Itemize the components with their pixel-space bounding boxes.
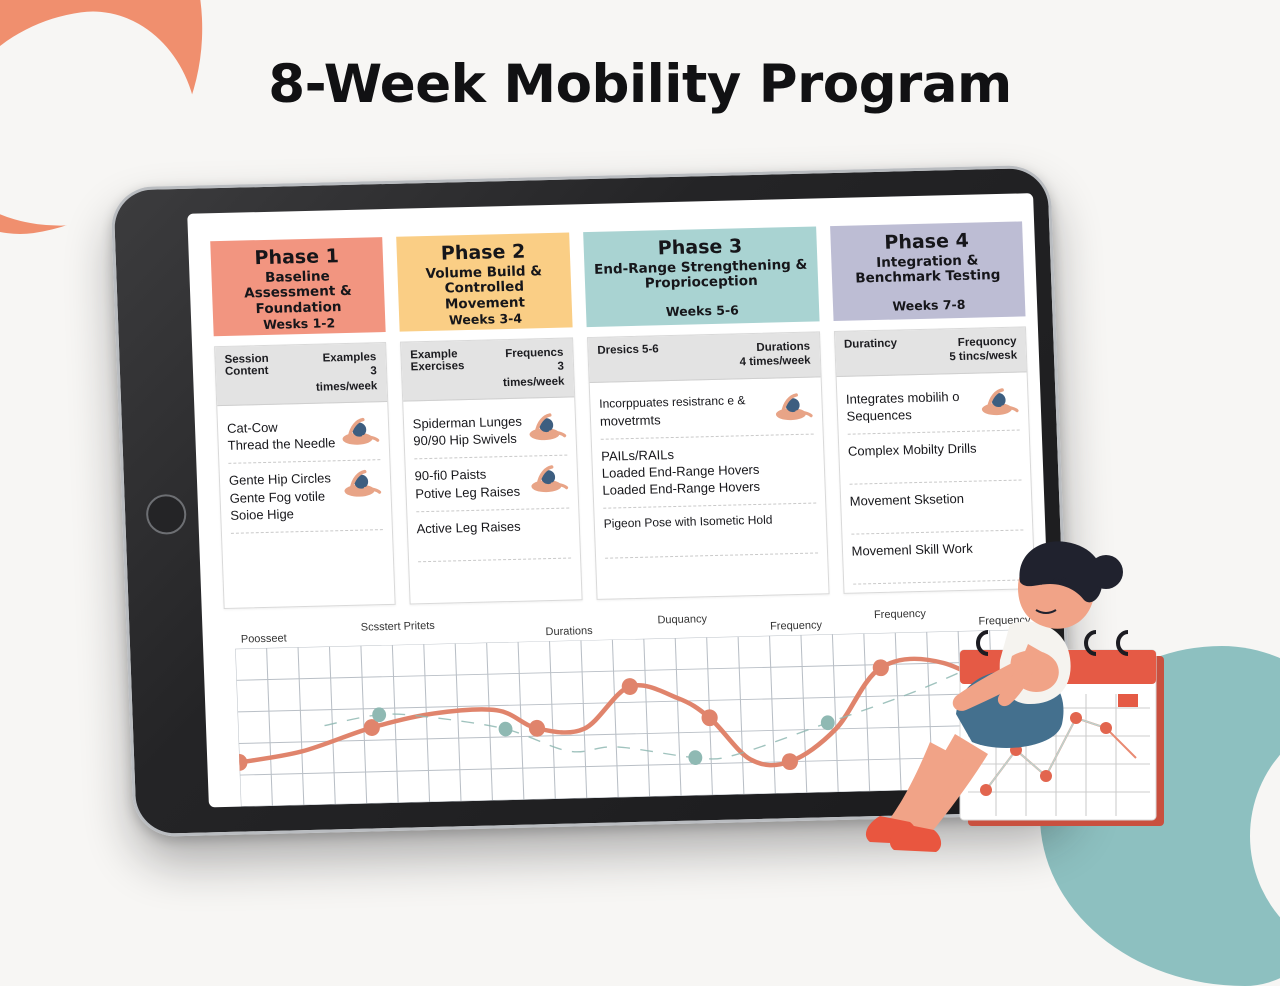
illustration-head: [1018, 541, 1123, 628]
exercise-figure-icon: [976, 386, 1019, 419]
exercise-figure-icon: [524, 412, 567, 445]
row-line: Gente Hip Circles: [229, 470, 337, 490]
phase-3-row-3[interactable]: Pigeon Pose with Isometic Hold: [603, 504, 818, 559]
row-line: 90/90 Hip Swivels: [413, 430, 523, 450]
phase-card-body: Spiderman Lunges90/90 Hip Swivels 90-fi0…: [403, 398, 582, 604]
chart-axis-label: Duquancy: [657, 613, 707, 626]
phase-weeks: Weeks 5-6: [594, 301, 811, 321]
card-header-right: Examples 3 times/week: [309, 350, 377, 395]
phase-banner-4[interactable]: Phase 4 Integration & Benchmark Testing …: [830, 221, 1026, 321]
page-title: 8-Week Mobility Program: [0, 54, 1280, 115]
exercise-figure-icon: [525, 464, 568, 497]
row-text-lines: Movement Sksetion: [849, 490, 978, 510]
phase-weeks: Weeks 7-8: [840, 296, 1017, 315]
row-text-lines: Incorppuates resistranc e &movetrmts: [599, 392, 769, 429]
phase-name: Phase 2: [404, 242, 562, 266]
row-line: Potive Leg Raises: [415, 482, 525, 502]
phase-column-2: Phase 2 Volume Build & Controlled Moveme…: [396, 233, 583, 605]
card-header-right: Frequoncy 5 tincs/wesk: [949, 335, 1018, 365]
row-line: Active Leg Raises: [416, 517, 526, 537]
card-header-right-bottom: 5 tincs/wesk: [949, 349, 1017, 365]
row-line: Sequences: [846, 405, 975, 425]
exercise-figure-icon: [976, 386, 1019, 419]
phase-4-row-2[interactable]: Complex Mobilty Drills: [847, 431, 1021, 485]
illustration-body: [953, 622, 1071, 748]
exercise-figure-icon: [338, 469, 381, 502]
row-icon-empty: [978, 439, 1021, 472]
chart-axis-label: Scsstert Pritets: [361, 620, 435, 634]
row-text-lines: Pigeon Pose with Isometic Hold: [603, 513, 772, 533]
phase-column-3: Phase 3 End-Range Strengthening & Propri…: [583, 226, 829, 600]
exercise-figure-icon: [336, 416, 379, 449]
chart-axis-label: Poosseet: [241, 633, 287, 646]
phase-card-2: Example Exercises Frequencs 3 times/week…: [400, 337, 583, 604]
chart-axis-label: Durations: [545, 625, 593, 638]
phase-card-3: Dresics 5-6 Durations 4 times/week Incor…: [587, 331, 829, 600]
phase-card-header: Example Exercises Frequencs 3 times/week: [401, 338, 574, 401]
exercise-figure-icon: [336, 416, 379, 449]
phase-description: End-Range Strengthening & Proprioception: [592, 258, 810, 294]
card-header-right-top: Frequencs: [501, 346, 564, 362]
card-header-right-bottom: 3 times/week: [310, 365, 378, 395]
phase-banner-1[interactable]: Phase 1 Baseline Assessment & Foundation…: [210, 237, 385, 336]
card-header-right: Durations 4 times/week: [739, 340, 811, 370]
phase-card-header: Duratincy Frequoncy 5 tincs/wesk: [835, 327, 1027, 376]
phase-1-row-2[interactable]: Gente Hip CirclesGente Fog votileSoioe H…: [228, 461, 382, 534]
woman-sitting-on-calendar-illustration: [860, 528, 1190, 858]
row-text-lines: Spiderman Lunges90/90 Hip Swivels: [412, 413, 522, 450]
row-icon-empty: [774, 512, 817, 545]
card-header-right-bottom: 4 times/week: [739, 354, 810, 370]
row-line: Loaded End-Range Hovers: [602, 478, 771, 499]
phase-card-body: Incorppuates resistranc e &movetrmts PAI…: [589, 377, 828, 599]
row-text-lines: PAILs/RAILsLoaded End-Range HoversLoaded…: [601, 443, 772, 499]
row-icon-empty: [772, 442, 815, 475]
card-header-left: Example Exercises: [410, 347, 502, 373]
phase-description: Integration & Benchmark Testing: [839, 253, 1017, 288]
card-header-right-top: Examples: [309, 350, 376, 366]
phase-banner-2[interactable]: Phase 2 Volume Build & Controlled Moveme…: [396, 233, 573, 332]
card-header-left: Dresics 5-6: [597, 343, 659, 356]
row-line: Pigeon Pose with Isometic Hold: [603, 513, 772, 533]
row-line: Gente Fog votile: [229, 487, 337, 507]
chart-axis-label: Frequency: [770, 619, 822, 632]
phase-2-row-2[interactable]: 90-fi0 PaistsPotive Leg Raises: [414, 456, 569, 512]
row-text-lines: Complex Mobilty Drills: [848, 440, 977, 460]
phase-1-row-1[interactable]: Cat-CowThread the Needle: [226, 408, 380, 464]
phase-weeks: Weeks 3-4: [407, 310, 565, 329]
row-icon-empty: [527, 516, 570, 549]
row-line: Soioe Hige: [230, 504, 338, 524]
row-line: movetrmts: [600, 408, 769, 429]
row-text-lines: 90-fi0 PaistsPotive Leg Raises: [414, 465, 524, 502]
phase-card-header: Dresics 5-6 Durations 4 times/week: [588, 332, 820, 382]
phase-column-1: Phase 1 Baseline Assessment & Foundation…: [210, 237, 395, 609]
phase-description: Volume Build & Controlled Movement: [405, 264, 564, 314]
exercise-figure-icon: [338, 469, 381, 502]
phase-banner-3[interactable]: Phase 3 End-Range Strengthening & Propri…: [583, 226, 819, 327]
row-text-lines: Integrates mobilih oSequences: [846, 387, 976, 424]
row-line: Integrates mobilih o: [846, 387, 975, 407]
phase-2-row-1[interactable]: Spiderman Lunges90/90 Hip Swivels: [412, 404, 567, 460]
phase-card-header: Session Content Examples 3 times/week: [215, 343, 387, 406]
phase-description: Baseline Assessment & Foundation: [219, 268, 376, 318]
row-line: Complex Mobilty Drills: [848, 440, 977, 460]
phase-3-row-1[interactable]: Incorppuates resistranc e &movetrmts: [599, 383, 814, 439]
phase-4-row-3[interactable]: Movement Sksetion: [849, 481, 1023, 535]
card-header-right: Frequencs 3 times/week: [501, 346, 565, 391]
exercise-figure-icon: [525, 464, 568, 497]
row-text-lines: Cat-CowThread the Needle: [227, 417, 336, 454]
row-icon-empty: [980, 489, 1023, 522]
phase-card-1: Session Content Examples 3 times/week Ca…: [214, 342, 395, 609]
card-header-left: Duratincy: [844, 338, 897, 351]
exercise-figure-icon: [524, 412, 567, 445]
phase-name: Phase 1: [219, 246, 375, 270]
phase-name: Phase 4: [838, 231, 1015, 255]
row-text-lines: Gente Hip CirclesGente Fog votileSoioe H…: [229, 470, 339, 524]
exercise-figure-icon: [770, 391, 813, 424]
row-line: Thread the Needle: [227, 435, 335, 455]
phase-card-body: Cat-CowThread the Needle Gente Hip Circl…: [217, 402, 394, 608]
row-line: Movement Sksetion: [849, 490, 978, 510]
phase-3-row-2[interactable]: PAILs/RAILsLoaded End-Range HoversLoaded…: [601, 434, 816, 509]
row-text-lines: Active Leg Raises: [416, 517, 526, 537]
card-header-left: Session Content: [224, 352, 310, 378]
phase-2-row-3[interactable]: Active Leg Raises: [416, 508, 571, 562]
card-header-right-bottom: 3 times/week: [502, 360, 565, 390]
phase-4-row-1[interactable]: Integrates mobilih oSequences: [845, 378, 1019, 434]
phase-weeks: Wesks 1-2: [221, 314, 377, 333]
exercise-figure-icon: [770, 391, 813, 424]
